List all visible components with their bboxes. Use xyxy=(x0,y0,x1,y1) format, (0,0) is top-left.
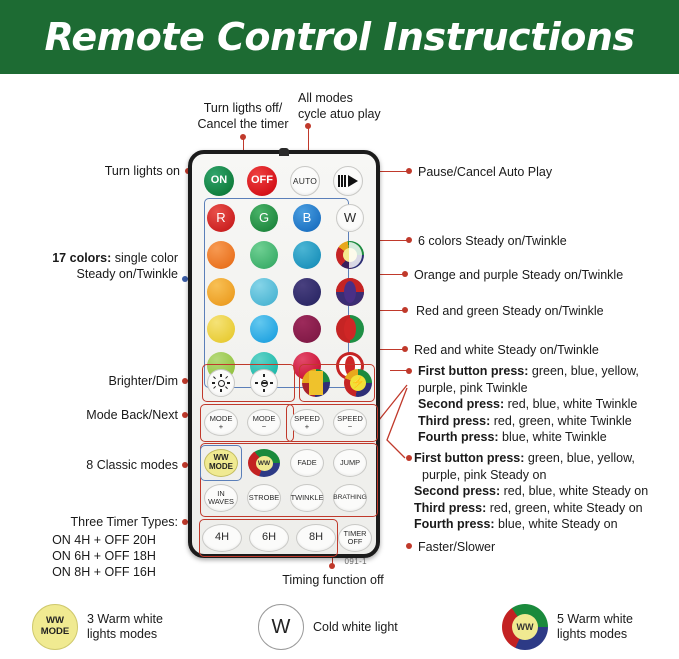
callout-turn-lights-on: Turn lights on xyxy=(10,163,180,179)
page-title: Remote Control Instructions xyxy=(44,15,634,59)
fade-button[interactable]: FADE xyxy=(290,449,324,477)
ww-button-inner: WW xyxy=(256,456,273,471)
color-button-green[interactable]: G xyxy=(250,204,278,232)
brightness-up-icon xyxy=(212,374,230,392)
speed-plus-stack: SPEED + xyxy=(294,415,320,431)
callout-turn-lights-off-line2: Cancel the timer xyxy=(178,116,308,132)
callout-dot-faster-slower xyxy=(406,543,412,549)
color-button-sky-blue[interactable] xyxy=(250,278,278,306)
red-green-center xyxy=(344,318,356,340)
callout-brighter-dim: Brighter/Dim xyxy=(10,373,178,389)
brightness-up-button[interactable] xyxy=(207,369,235,397)
jump-label: JUMP xyxy=(340,459,360,467)
orange-purple-center xyxy=(344,281,356,303)
ir-emitter-nub xyxy=(279,148,289,156)
callout-turn-lights-off: Turn ligths off/ Cancel the timer xyxy=(178,100,308,132)
callout-timing-off-text: Timing function off xyxy=(282,573,383,587)
five-ww-legend-text: 5 Warm white lights modes xyxy=(557,612,633,642)
speed-minus-button[interactable]: SPEED − xyxy=(333,409,367,436)
brathing-button[interactable]: BRATHING xyxy=(333,484,367,512)
callout-dot-pause-cancel xyxy=(406,168,412,174)
color-button-teal-blue[interactable] xyxy=(293,241,321,269)
power-on-label: ON xyxy=(211,175,228,186)
speed-minus-stack: SPEED − xyxy=(337,415,363,431)
callout-dot-six-colors xyxy=(406,237,412,243)
callout-eight-classic-text: 8 Classic modes xyxy=(86,458,178,472)
color-button-blue-label: B xyxy=(303,211,312,224)
callout-faster-slower: Faster/Slower xyxy=(418,539,495,555)
mode-minus-button[interactable]: MODE − xyxy=(247,409,281,436)
mode-minus-sign: − xyxy=(262,423,266,431)
twinkle-line3: Second press: red, blue, white Twinkle xyxy=(418,396,639,413)
color-button-dark-purple[interactable] xyxy=(293,278,321,306)
twinkle-line4-rest: red, green, white Twinkle xyxy=(490,414,632,428)
steady-line3-rest: red, blue, white Steady on xyxy=(500,484,648,498)
steady-line5: Fourth press: blue, white Steady on xyxy=(414,516,648,533)
steady-line1-bold: First button press: xyxy=(414,451,524,465)
ww-mode-line2: MODE xyxy=(209,463,233,472)
ww-button[interactable]: WW xyxy=(248,449,280,477)
legend-item-five-ww: WW 5 Warm white lights modes xyxy=(502,604,633,650)
twinkle-line1-rest: green, blue, yellow, xyxy=(528,364,639,378)
callout-all-modes: All modes cycle atuo play xyxy=(298,90,428,122)
strobe-button[interactable]: STROBE xyxy=(247,484,281,512)
multicolor-button-six-colors[interactable] xyxy=(336,241,364,269)
lightning-bolt-icon: ⚡ xyxy=(350,375,366,391)
callout-pause-cancel-text: Pause/Cancel Auto Play xyxy=(418,165,552,179)
power-off-label: OFF xyxy=(251,175,273,186)
steady-line5-rest: blue, white Steady on xyxy=(495,517,618,531)
cold-white-legend-icon: W xyxy=(258,604,304,650)
twinkle-group-bar xyxy=(309,371,323,395)
callout-twinkle-block: First button press: green, blue, yellow,… xyxy=(418,363,639,446)
callout-17-colors: 17 colors: single color Steady on/Twinkl… xyxy=(10,250,178,282)
speed-minus-sign: − xyxy=(348,423,352,431)
speed-plus-button[interactable]: SPEED + xyxy=(290,409,324,436)
callout-three-timer-types: Three Timer Types: xyxy=(30,514,178,530)
ww-mode-stack: WW MODE xyxy=(209,454,233,472)
brightness-down-icon xyxy=(255,374,273,392)
steady-line5-bold: Fourth press: xyxy=(414,517,495,531)
five-ww-legend-icon-label: WW xyxy=(517,622,534,632)
steady-line2: purple, pink Steady on xyxy=(414,467,648,484)
color-button-blue[interactable]: B xyxy=(293,204,321,232)
twinkle-line3-rest: red, blue, white Twinkle xyxy=(504,397,637,411)
callout-orange-purple: Orange and purple Steady on/Twinkle xyxy=(414,267,623,283)
in-waves-stack: IN WAVES xyxy=(208,490,234,506)
callout-six-colors: 6 colors Steady on/Twinkle xyxy=(418,233,567,249)
callout-faster-slower-text: Faster/Slower xyxy=(418,540,495,554)
callout-brighter-dim-text: Brighter/Dim xyxy=(109,374,178,388)
leader-twinkle-block xyxy=(390,370,408,371)
timer-off-button[interactable]: TIMER OFF xyxy=(338,524,372,552)
mode-plus-sign: + xyxy=(219,423,223,431)
color-button-spring-green[interactable] xyxy=(250,241,278,269)
callout-eight-classic: 8 Classic modes xyxy=(10,457,178,473)
timer-off-stack: TIMER OFF xyxy=(344,530,367,546)
legend-bar: WW MODE 3 Warm white lights modes W Cold… xyxy=(0,596,679,659)
timer-8h-label: 8H xyxy=(309,532,323,543)
mode-plus-button[interactable]: MODE + xyxy=(204,409,238,436)
power-off-button[interactable]: OFF xyxy=(247,166,277,196)
callout-timing-off: Timing function off xyxy=(258,572,408,588)
callout-turn-lights-off-line1: Turn ligths off/ xyxy=(178,100,308,116)
steady-line3-bold: Second press: xyxy=(414,484,500,498)
mode-plus-stack: MODE + xyxy=(210,415,233,431)
five-ww-legend-line1: 5 Warm white xyxy=(557,612,633,627)
multicolor-button-red-green[interactable] xyxy=(336,315,364,343)
callout-mode-back-next-text: Mode Back/Next xyxy=(86,408,178,422)
steady-line1-rest: green, blue, yellow, xyxy=(524,451,635,465)
mode-minus-stack: MODE − xyxy=(253,415,276,431)
five-ww-legend-icon-inner: WW xyxy=(512,614,538,640)
ww-mode-legend-text: 3 Warm white lights modes xyxy=(87,612,163,642)
twinkle-line1-bold: First button press: xyxy=(418,364,528,378)
speed-plus-sign: + xyxy=(305,423,309,431)
strobe-label: STROBE xyxy=(249,494,279,502)
remote-control-body: ON OFF AUTO R G B W xyxy=(188,150,380,558)
header-banner: Remote Control Instructions xyxy=(0,0,679,74)
steady-line3: Second press: red, blue, white Steady on xyxy=(414,483,648,500)
timer-4h-label: 4H xyxy=(215,532,229,543)
callout-timer-title: Three Timer Types: xyxy=(30,514,178,530)
model-code: 091-1 xyxy=(345,557,367,566)
twinkle-line4: Third press: red, green, white Twinkle xyxy=(418,413,639,430)
pause-play-icon xyxy=(338,175,357,187)
multicolor-button-steady-group[interactable]: ⚡ xyxy=(344,369,372,397)
five-ww-legend-icon: WW xyxy=(502,604,548,650)
fade-label: FADE xyxy=(297,459,316,467)
callout-17-colors-bold: 17 colors: xyxy=(52,251,111,265)
twinkle-line5-rest: blue, white Twinkle xyxy=(499,430,607,444)
callout-all-modes-line2: cycle atuo play xyxy=(298,106,428,122)
steady-line1: First button press: green, blue, yellow, xyxy=(414,450,648,467)
color-button-yellow[interactable] xyxy=(207,315,235,343)
color-button-amber[interactable] xyxy=(207,278,235,306)
twinkle-line1: First button press: green, blue, yellow, xyxy=(418,363,639,380)
steady-line4: Third press: red, green, white Steady on xyxy=(414,500,648,517)
ww-mode-legend-icon-line2: MODE xyxy=(41,627,70,638)
in-waves-line2: WAVES xyxy=(208,498,234,506)
cold-white-legend-icon-label: W xyxy=(272,616,291,639)
legend-item-cold-white: W Cold white light xyxy=(258,604,398,650)
timer-4h-button[interactable]: 4H xyxy=(202,524,242,552)
callout-17-colors-line2: Steady on/Twinkle xyxy=(10,266,178,282)
callout-17-colors-line1: 17 colors: single color xyxy=(10,250,178,266)
timer-6h-button[interactable]: 6H xyxy=(249,524,289,552)
ww-mode-button[interactable]: WW MODE xyxy=(204,449,238,477)
twinkle-line5: Fourth press: blue, white Twinkle xyxy=(418,429,639,446)
timer-6h-label: 6H xyxy=(262,532,276,543)
callout-pause-cancel: Pause/Cancel Auto Play xyxy=(418,164,552,180)
color-button-white-label: W xyxy=(344,211,356,224)
twinkle-line3-bold: Second press: xyxy=(418,397,504,411)
color-button-green-label: G xyxy=(259,211,269,224)
ww-mode-legend-line1: 3 Warm white xyxy=(87,612,163,627)
callout-turn-lights-on-text: Turn lights on xyxy=(105,164,180,178)
callout-red-white: Red and white Steady on/Twinkle xyxy=(414,342,599,358)
callout-all-modes-line1: All modes xyxy=(298,90,428,106)
callout-dot-orange-purple xyxy=(402,271,408,277)
callout-dot-red-white xyxy=(402,346,408,352)
ww-mode-legend-line2: lights modes xyxy=(87,627,163,642)
pause-play-button[interactable] xyxy=(333,166,363,196)
cold-white-legend-line1: Cold white light xyxy=(313,620,398,635)
cold-white-legend-text: Cold white light xyxy=(313,620,398,635)
color-button-red-label: R xyxy=(216,211,225,224)
twinkle-line4-bold: Third press: xyxy=(418,414,490,428)
twinkle-label: TWINKLE xyxy=(291,494,324,502)
steady-line4-rest: red, green, white Steady on xyxy=(486,501,642,515)
auto-label: AUTO xyxy=(293,177,317,186)
callout-dot-red-green xyxy=(402,307,408,313)
callout-timer-line1: ON 4H + OFF 20H xyxy=(30,532,178,548)
power-on-button[interactable]: ON xyxy=(204,166,234,196)
callout-orange-purple-text: Orange and purple Steady on/Twinkle xyxy=(414,268,623,282)
color-button-orange[interactable] xyxy=(207,241,235,269)
ww-mode-legend-icon: WW MODE xyxy=(32,604,78,650)
callout-red-green: Red and green Steady on/Twinkle xyxy=(416,303,604,319)
callout-red-green-text: Red and green Steady on/Twinkle xyxy=(416,304,604,318)
twinkle-line5-bold: Fourth press: xyxy=(418,430,499,444)
callout-timer-line3: ON 8H + OFF 16H xyxy=(30,564,178,580)
legend-item-ww-mode: WW MODE 3 Warm white lights modes xyxy=(32,604,163,650)
callout-mode-back-next: Mode Back/Next xyxy=(10,407,178,423)
six-colors-highlight xyxy=(349,242,362,268)
timer-off-line2: OFF xyxy=(348,538,363,546)
brathing-label: BRATHING xyxy=(333,495,367,502)
callout-timer-lines: ON 4H + OFF 20H ON 6H + OFF 18H ON 8H + … xyxy=(30,532,178,580)
color-button-white[interactable]: W xyxy=(336,204,364,232)
callout-steady-block: First button press: green, blue, yellow,… xyxy=(414,450,648,533)
twinkle-line2: purple, pink Twinkle xyxy=(418,380,639,397)
in-waves-button[interactable]: IN WAVES xyxy=(204,484,238,512)
callout-red-white-text: Red and white Steady on/Twinkle xyxy=(414,343,599,357)
callout-six-colors-text: 6 colors Steady on/Twinkle xyxy=(418,234,567,248)
ww-button-label: WW xyxy=(258,460,270,467)
brightness-down-button[interactable] xyxy=(250,369,278,397)
jump-button[interactable]: JUMP xyxy=(333,449,367,477)
five-ww-legend-line2: lights modes xyxy=(557,627,633,642)
callout-timer-line2: ON 6H + OFF 18H xyxy=(30,548,178,564)
multicolor-button-twinkle-group[interactable] xyxy=(302,369,330,397)
multicolor-button-orange-purple[interactable] xyxy=(336,278,364,306)
callout-dot-timing-off xyxy=(329,563,335,569)
auto-button[interactable]: AUTO xyxy=(290,166,320,196)
color-button-red[interactable]: R xyxy=(207,204,235,232)
color-button-maroon[interactable] xyxy=(293,315,321,343)
color-button-light-blue[interactable] xyxy=(250,315,278,343)
timer-8h-button[interactable]: 8H xyxy=(296,524,336,552)
twinkle-button[interactable]: TWINKLE xyxy=(290,484,324,512)
callout-17-colors-rest: single color xyxy=(111,251,178,265)
